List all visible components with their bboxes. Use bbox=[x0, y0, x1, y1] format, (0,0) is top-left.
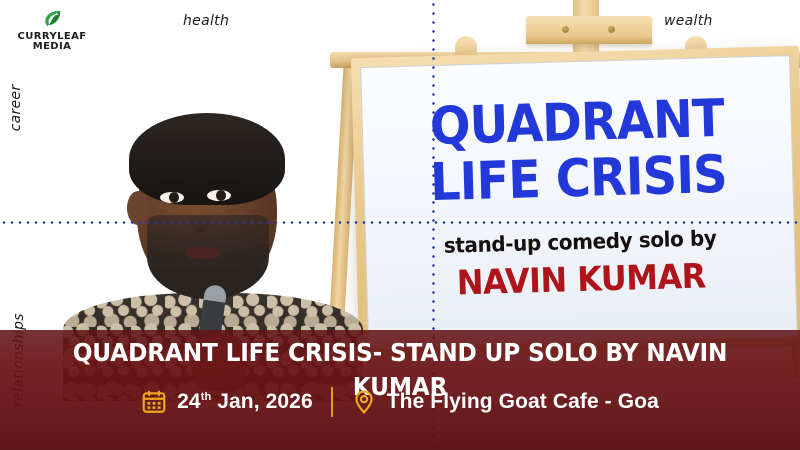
quadrant-label-health: health bbox=[183, 13, 229, 29]
event-date: 24th Jan, 2026 bbox=[141, 389, 313, 415]
location-pin-icon bbox=[351, 389, 377, 415]
performer-mouth bbox=[186, 247, 220, 259]
performer-eyebrow-right bbox=[205, 178, 237, 185]
whiteboard-performer-name: NAVIN KUMAR bbox=[380, 254, 783, 305]
easel-screw-right bbox=[608, 26, 615, 33]
brand-name-line2: MEDIA bbox=[14, 42, 90, 52]
whiteboard-subtitle: stand-up comedy solo by bbox=[377, 224, 784, 259]
quadrant-label-wealth: wealth bbox=[664, 13, 713, 29]
performer-eye-left bbox=[160, 192, 184, 203]
whiteboard-face: QUADRANT LIFE CRISIS stand-up comedy sol… bbox=[360, 55, 798, 349]
brand-logo: CURRYLEAF MEDIA bbox=[14, 8, 90, 52]
calendar-icon bbox=[141, 389, 167, 415]
event-date-rest: Jan, 2026 bbox=[211, 390, 312, 413]
whiteboard-title-line2: LIFE CRISIS bbox=[381, 147, 776, 212]
event-date-day: 24 bbox=[177, 390, 201, 413]
meta-divider bbox=[331, 387, 333, 417]
performer-hair bbox=[129, 113, 285, 205]
performer-ear bbox=[127, 191, 149, 225]
brand-name: CURRYLEAF MEDIA bbox=[14, 32, 90, 52]
event-meta-row: 24th Jan, 2026 The Flying Goat Cafe - Go… bbox=[0, 380, 800, 424]
event-venue: The Flying Goat Cafe - Goa bbox=[351, 389, 659, 415]
event-date-text: 24th Jan, 2026 bbox=[177, 390, 313, 414]
easel-screw-left bbox=[562, 26, 569, 33]
event-date-ordinal: th bbox=[201, 391, 212, 403]
performer-eye-right bbox=[207, 190, 231, 201]
quadrant-horizontal-axis bbox=[0, 221, 800, 224]
leaf-icon bbox=[41, 8, 63, 30]
event-venue-text: The Flying Goat Cafe - Goa bbox=[387, 390, 659, 414]
easel-crossbar bbox=[526, 16, 652, 44]
quadrant-label-career: career bbox=[8, 78, 24, 138]
event-banner: QUADRANT LIFE CRISIS- STAND UP SOLO BY N… bbox=[0, 330, 800, 450]
whiteboard: QUADRANT LIFE CRISIS stand-up comedy sol… bbox=[351, 46, 800, 358]
event-poster: CURRYLEAF MEDIA health wealth career rel… bbox=[0, 0, 800, 450]
